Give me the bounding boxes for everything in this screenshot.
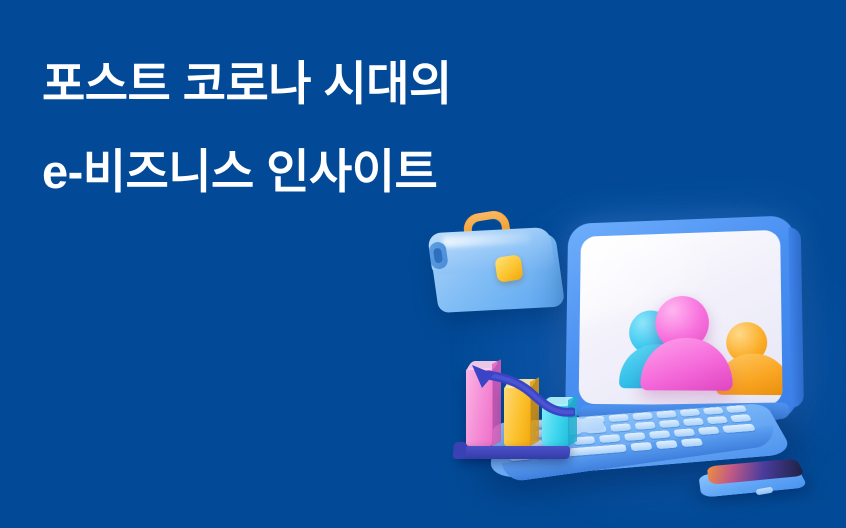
keyboard-key <box>574 436 595 445</box>
keyboard-key <box>630 442 652 451</box>
trend-arrow-icon <box>460 362 575 424</box>
keyboard-key <box>624 432 646 441</box>
keyboard-key <box>706 416 728 424</box>
briefcase-icon <box>428 212 563 317</box>
promo-banner: 포스트 코로나 시대의 e-비즈니스 인사이트 <box>0 0 846 528</box>
keyboard-key <box>673 428 695 437</box>
keyboard-key <box>599 434 620 443</box>
laptop-lid-edge <box>788 227 804 408</box>
keyboard-key <box>649 430 671 439</box>
bar-chart-icon <box>452 362 577 472</box>
phone-side-button <box>756 487 774 496</box>
keyboard-key <box>656 410 677 418</box>
keyboard-key <box>730 414 752 422</box>
keyboard-key <box>679 409 700 417</box>
keyboard-key <box>683 418 705 426</box>
briefcase-lid-highlight <box>442 232 532 248</box>
laptop-screen <box>579 230 783 406</box>
keyboard-key <box>698 426 720 435</box>
keyboard-key <box>610 423 631 432</box>
keyboard-key <box>659 420 681 428</box>
laptop-lid <box>565 215 798 420</box>
smartphone-icon <box>700 452 808 514</box>
keyboard-key <box>681 438 704 447</box>
laptop-icon <box>548 208 808 468</box>
keyboard-key <box>632 412 653 420</box>
keyboard-key <box>656 440 678 449</box>
keyboard-key <box>722 424 756 433</box>
briefcase-clasp <box>494 254 523 282</box>
chart-base-platform <box>457 446 570 459</box>
keyboard-key <box>608 414 629 422</box>
keyboard-key <box>726 405 748 413</box>
hero-illustration <box>0 0 846 528</box>
people-group-icon <box>623 288 783 399</box>
keyboard-key <box>703 407 724 415</box>
keyboard-key <box>635 421 656 429</box>
